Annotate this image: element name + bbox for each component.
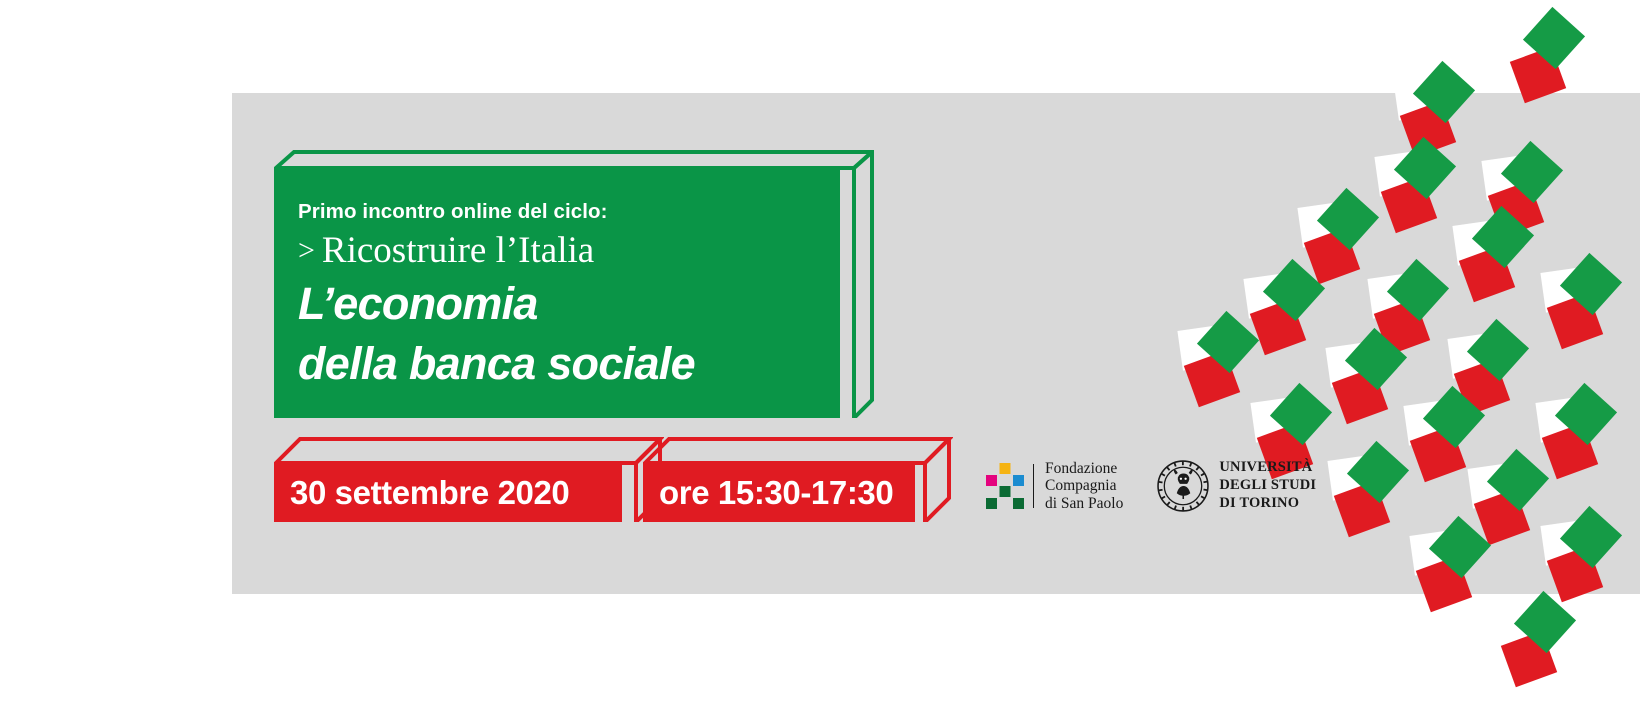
series-title-text: Ricostruire l’Italia bbox=[322, 230, 594, 271]
unito-wordmark: UNIVERSITÀ DEGLI STUDI DI TORINO bbox=[1219, 459, 1316, 512]
event-date-card: 30 settembre 2020 bbox=[274, 437, 664, 522]
logo-row: Fondazione Compagnia di San Paolo bbox=[986, 450, 1316, 522]
main-message-card: Primo incontro online del ciclo: >Ricost… bbox=[274, 150, 874, 418]
event-time-label: ore 15:30-17:30 bbox=[643, 474, 893, 512]
fondazione-line-2: Compagnia bbox=[1045, 477, 1123, 495]
unito-line-1: UNIVERSITÀ bbox=[1219, 459, 1316, 477]
fondazione-line-3: di San Paolo bbox=[1045, 495, 1123, 513]
fondazione-mark-icon bbox=[986, 463, 1024, 509]
fondazione-wordmark: Fondazione Compagnia di San Paolo bbox=[1045, 460, 1123, 513]
mark-square-green-center bbox=[1000, 486, 1011, 497]
motif-white-square bbox=[1503, 21, 1548, 66]
unito-line-3: DI TORINO bbox=[1219, 495, 1316, 513]
card-headline-line-1: L’economia bbox=[298, 277, 838, 331]
time-card-face: ore 15:30-17:30 bbox=[643, 463, 915, 522]
card-kicker: Primo incontro online del ciclo: bbox=[298, 200, 838, 224]
flag-diamond-motif bbox=[1503, 7, 1585, 103]
fondazione-line-1: Fondazione bbox=[1045, 460, 1123, 478]
logo-universita-degli-studi-di-torino: UNIVERSITÀ DEGLI STUDI DI TORINO bbox=[1157, 459, 1316, 512]
green-card-text-block: Primo incontro online del ciclo: >Ricost… bbox=[298, 200, 838, 391]
motif-red-square bbox=[1501, 631, 1557, 687]
unito-seal-icon bbox=[1157, 460, 1209, 512]
mark-square-blue bbox=[1013, 475, 1024, 486]
logo-fondazione-compagnia-di-san-paolo: Fondazione Compagnia di San Paolo bbox=[986, 460, 1123, 513]
green-card-face: Primo incontro online del ciclo: >Ricost… bbox=[274, 168, 840, 418]
mark-square-green-right bbox=[1013, 498, 1024, 509]
chevron-right-icon: > bbox=[298, 234, 315, 267]
flag-diamond-motif bbox=[1494, 591, 1576, 687]
mark-square-green-left bbox=[986, 498, 997, 509]
mark-square-magenta bbox=[986, 475, 997, 486]
motif-green-diamond bbox=[1523, 7, 1585, 69]
motif-green-diamond bbox=[1514, 591, 1576, 653]
card-headline-line-2: della banca sociale bbox=[298, 337, 838, 391]
event-date-label: 30 settembre 2020 bbox=[274, 474, 569, 512]
event-time-card: ore 15:30-17:30 bbox=[643, 437, 953, 522]
logo-divider bbox=[1033, 464, 1034, 508]
card-series-title: >Ricostruire l’Italia bbox=[298, 230, 838, 271]
unito-line-2: DEGLI STUDI bbox=[1219, 477, 1316, 495]
date-card-face: 30 settembre 2020 bbox=[274, 463, 622, 522]
motif-white-square bbox=[1494, 605, 1539, 650]
mark-square-yellow bbox=[1000, 463, 1011, 474]
